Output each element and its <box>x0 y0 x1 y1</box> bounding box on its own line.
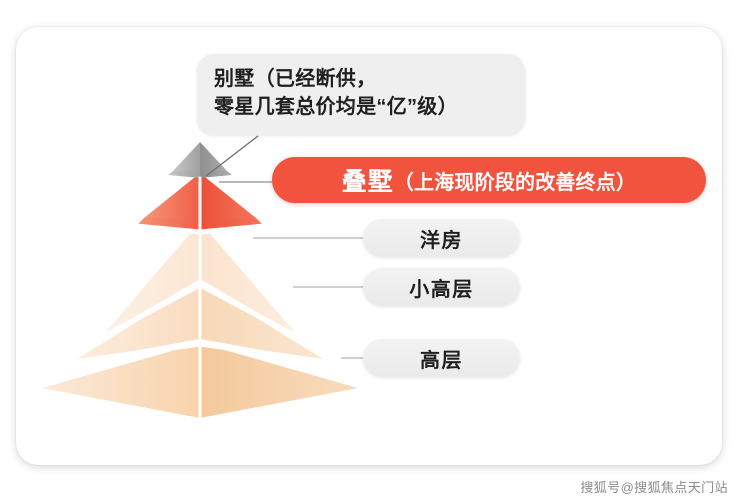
stacked-villa-pill[interactable]: 叠墅（上海现阶段的改善终点） <box>272 157 706 203</box>
tier-pill-gaoceng[interactable]: 高层 <box>363 339 520 377</box>
villa-callout-line-2: 零星几套总价均是“亿”级） <box>214 93 508 121</box>
tier-pill-xiaogaoceng-label: 小高层 <box>409 273 474 302</box>
diagram-canvas: 别墅（已经断供， 零星几套总价均是“亿”级） 叠墅（上海现阶段的改善终点） 洋房… <box>0 0 740 502</box>
tier-pill-xiaogaoceng[interactable]: 小高层 <box>363 268 520 306</box>
stacked-villa-detail: （上海现阶段的改善终点） <box>394 166 636 195</box>
villa-callout[interactable]: 别墅（已经断供， 零星几套总价均是“亿”级） <box>197 54 525 135</box>
stacked-villa-emphasis: 叠墅 <box>342 162 394 198</box>
tier-pill-yangfang-label: 洋房 <box>420 224 463 253</box>
watermark: 搜狐号@搜狐焦点天门站 <box>580 477 728 496</box>
tier-pill-gaoceng-label: 高层 <box>420 344 463 373</box>
villa-callout-line-1: 别墅（已经断供， <box>214 65 508 93</box>
tier-pill-yangfang[interactable]: 洋房 <box>363 219 520 257</box>
